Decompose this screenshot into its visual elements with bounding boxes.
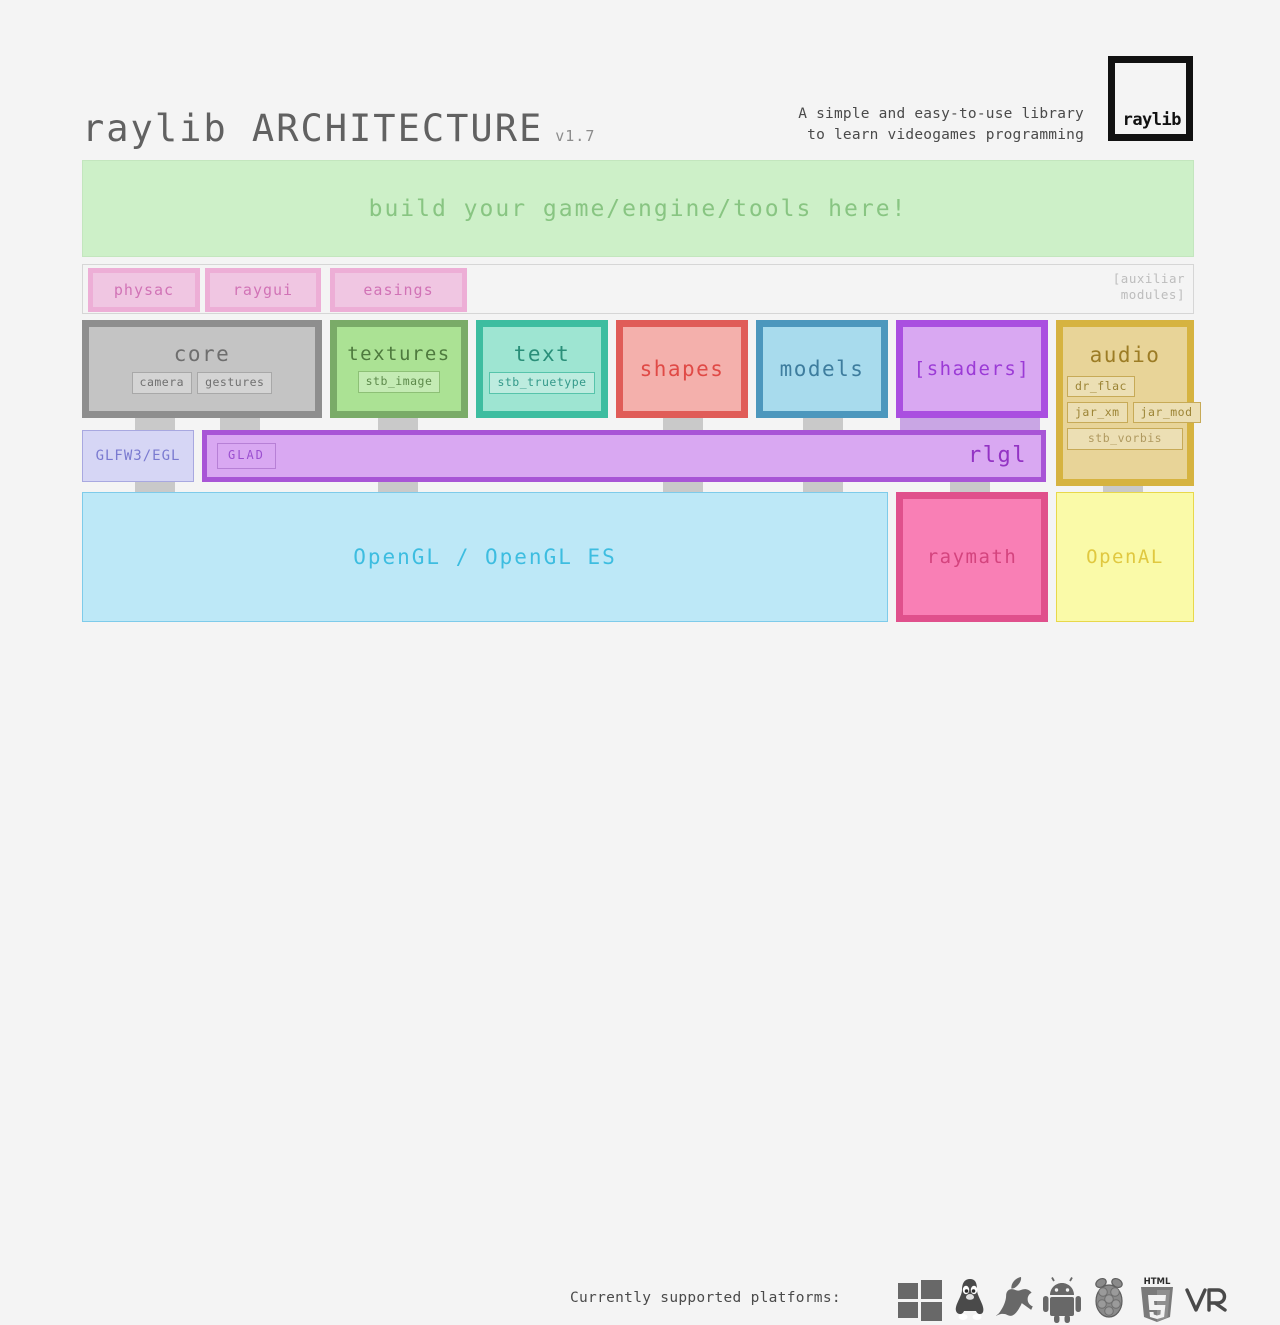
html5-icon: HTML <box>1136 1275 1178 1325</box>
user-layer-label: build your game/engine/tools here! <box>369 196 908 222</box>
aux-module-easings[interactable]: easings <box>330 268 467 312</box>
module-textures[interactable]: textures stb_image <box>330 320 468 418</box>
module-models-title: models <box>780 359 865 380</box>
layer-glfw3-egl-label: GLFW3/EGL <box>96 449 181 463</box>
platform-icons-list: HTML <box>896 1275 1230 1325</box>
raylib-logo: raylib <box>1108 56 1193 141</box>
layer-rlgl-label: rlgl <box>968 445 1027 467</box>
aux-module-easings-label: easings <box>335 273 462 307</box>
module-core[interactable]: core camera gestures <box>82 320 322 418</box>
layer-glfw3-egl[interactable]: GLFW3/EGL <box>82 430 194 482</box>
module-audio-chip-jar-mod[interactable]: jar_mod <box>1133 402 1201 423</box>
module-audio-title: audio <box>1090 345 1161 366</box>
module-audio[interactable]: audio dr_flac jar_xm jar_mod stb_vorbis <box>1056 320 1194 486</box>
aux-module-raygui[interactable]: raygui <box>205 268 321 312</box>
user-layer-banner: build your game/engine/tools here! <box>82 160 1194 257</box>
header: raylib ARCHITECTURE v1.7 A simple and ea… <box>0 0 1280 160</box>
layer-openal-label: OpenAL <box>1086 548 1164 567</box>
page-title: raylib ARCHITECTURE v1.7 <box>82 110 595 147</box>
layer-openal[interactable]: OpenAL <box>1056 492 1194 622</box>
module-audio-chip-stb-vorbis[interactable]: stb_vorbis <box>1067 428 1183 449</box>
layer-opengl-label: OpenGL / OpenGL ES <box>353 547 617 568</box>
module-core-title: core <box>174 344 231 365</box>
module-shaders-title: [shaders] <box>914 360 1030 379</box>
module-text[interactable]: text stb_truetype <box>476 320 608 418</box>
aux-module-physac-label: physac <box>93 273 195 307</box>
module-core-chip-camera[interactable]: camera <box>132 372 193 393</box>
footer: Currently supported platforms: <box>0 635 1280 705</box>
layer-rlgl-chip-glad[interactable]: GLAD <box>217 443 276 469</box>
module-textures-title: textures <box>347 345 451 364</box>
module-audio-chip-dr-flac[interactable]: dr_flac <box>1067 376 1135 397</box>
module-text-chip-stb-truetype[interactable]: stb_truetype <box>489 372 594 393</box>
aux-module-physac[interactable]: physac <box>88 268 200 312</box>
aux-module-raygui-label: raygui <box>210 273 316 307</box>
raspberry-pi-icon <box>1088 1277 1130 1323</box>
svg-text:HTML: HTML <box>1144 1277 1171 1287</box>
module-models[interactable]: models <box>756 320 888 418</box>
module-shaders[interactable]: [shaders] <box>896 320 1048 418</box>
aux-label-line-1: [auxiliar <box>1113 271 1185 287</box>
auxiliar-modules-label: [auxiliar modules] <box>1113 271 1185 303</box>
layer-opengl[interactable]: OpenGL / OpenGL ES <box>82 492 888 622</box>
module-shapes-title: shapes <box>640 359 725 380</box>
layer-raymath-label: raymath <box>927 548 1018 567</box>
module-textures-chip-stb-image[interactable]: stb_image <box>358 371 441 392</box>
supported-platforms-label: Currently supported platforms: <box>570 1290 841 1306</box>
layer-raymath[interactable]: raymath <box>896 492 1048 622</box>
tagline: A simple and easy-to-use library to lear… <box>798 104 1084 146</box>
module-core-chip-gestures[interactable]: gestures <box>197 372 272 393</box>
module-shapes[interactable]: shapes <box>616 320 748 418</box>
module-text-title: text <box>514 344 571 365</box>
apple-icon <box>996 1277 1036 1323</box>
android-icon <box>1042 1277 1082 1323</box>
raylib-logo-text: raylib <box>1123 112 1186 134</box>
tagline-line-2: to learn videogames programming <box>798 125 1084 146</box>
title-version-text: v1.7 <box>555 127 595 145</box>
aux-label-line-2: modules] <box>1113 287 1185 303</box>
windows-icon <box>896 1277 944 1323</box>
module-audio-chip-jar-xm[interactable]: jar_xm <box>1067 402 1128 423</box>
title-main-text: raylib ARCHITECTURE <box>82 110 543 147</box>
tagline-line-1: A simple and easy-to-use library <box>798 104 1084 125</box>
auxiliar-modules-row: physac raygui easings [auxiliar modules] <box>82 264 1194 314</box>
linux-icon <box>950 1277 990 1323</box>
vr-icon <box>1184 1277 1230 1323</box>
layer-rlgl[interactable]: GLAD rlgl <box>202 430 1046 482</box>
